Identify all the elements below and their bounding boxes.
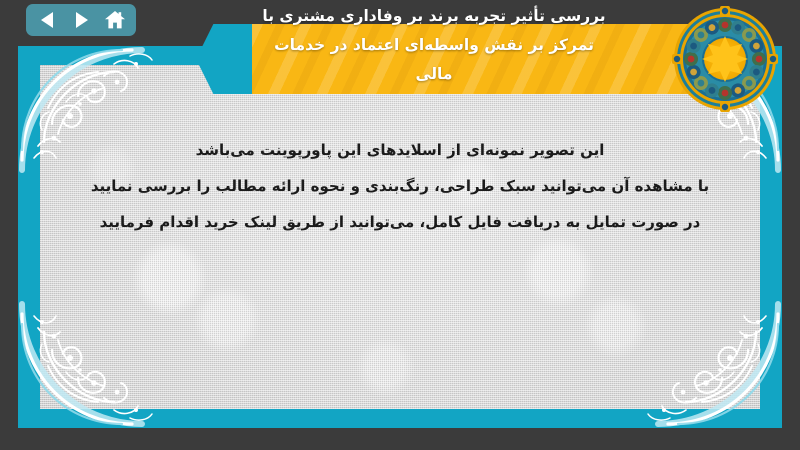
persian-medallion-icon — [672, 6, 778, 112]
previous-slide-button[interactable] — [33, 7, 61, 33]
triangle-left-icon — [39, 11, 56, 29]
slide-body-text: این تصویر نمونه‌ای از اسلایدهای این پاور… — [48, 132, 752, 240]
home-button[interactable] — [101, 7, 129, 33]
slide-viewer: بررسی تأثیر تجربه برند بر وفاداری مشتری … — [0, 0, 800, 450]
body-text-line: این تصویر نمونه‌ای از اسلایدهای این پاور… — [48, 132, 752, 168]
body-text-line: در صورت تمایل به دریافت فایل کامل، می‌تو… — [48, 204, 752, 240]
banner-arrow-tip — [196, 24, 258, 94]
body-text-line: با مشاهده آن می‌توانید سبک طراحی، رنگ‌بن… — [48, 168, 752, 204]
triangle-right-icon — [73, 11, 90, 29]
house-icon — [104, 10, 126, 30]
next-slide-button[interactable] — [67, 7, 95, 33]
slide-navigation-bar — [26, 4, 136, 36]
title-banner — [196, 24, 752, 94]
